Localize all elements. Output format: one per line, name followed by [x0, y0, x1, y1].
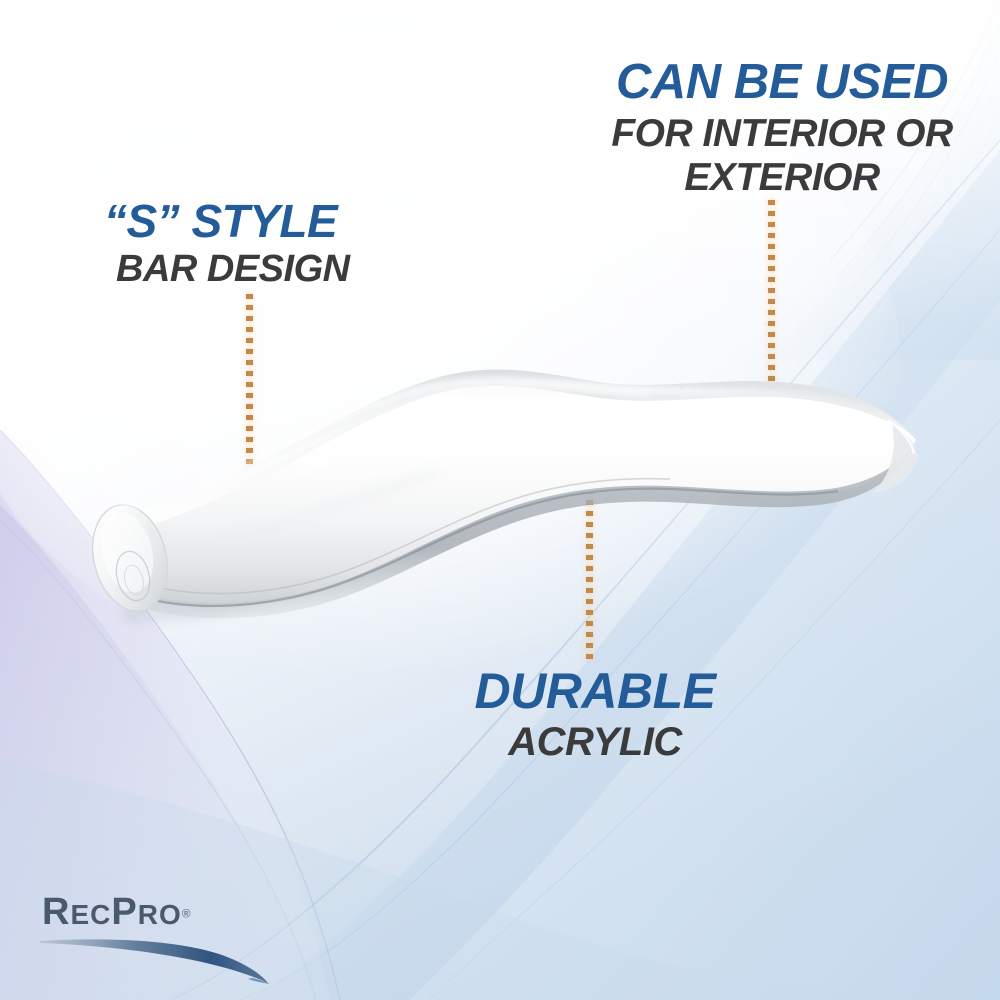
callout-interior-line2: FOR INTERIOR OR [592, 114, 972, 153]
callout-interior-line3: EXTERIOR [592, 158, 972, 197]
logo-letters-ec: EC [70, 899, 111, 930]
callout-interior-exterior: CAN BE USED FOR INTERIOR OR EXTERIOR [592, 58, 972, 197]
callout-interior-line1: CAN BE USED [592, 58, 972, 107]
recpro-logo: RECPRO® [42, 893, 192, 931]
infographic-canvas: “S” STYLE BAR DESIGN CAN BE USED FOR INT… [0, 0, 1000, 1000]
callout-durable-line2: ACRYLIC [450, 722, 740, 762]
logo-letter-p: P [111, 891, 137, 933]
callout-s-style: “S” STYLE BAR DESIGN [104, 198, 350, 288]
callout-durable-line1: DURABLE [450, 666, 740, 716]
recpro-swoosh-icon [38, 933, 288, 985]
callout-durable-acrylic: DURABLE ACRYLIC [450, 666, 740, 762]
logo-letter-r: R [42, 891, 70, 933]
logo-letters-ro: RO [138, 899, 182, 930]
callout-s-style-line1: “S” STYLE [104, 198, 350, 244]
recpro-logo-text: RECPRO® [42, 893, 192, 931]
registered-trademark-icon: ® [182, 907, 192, 921]
callout-s-style-line2: BAR DESIGN [116, 250, 350, 288]
